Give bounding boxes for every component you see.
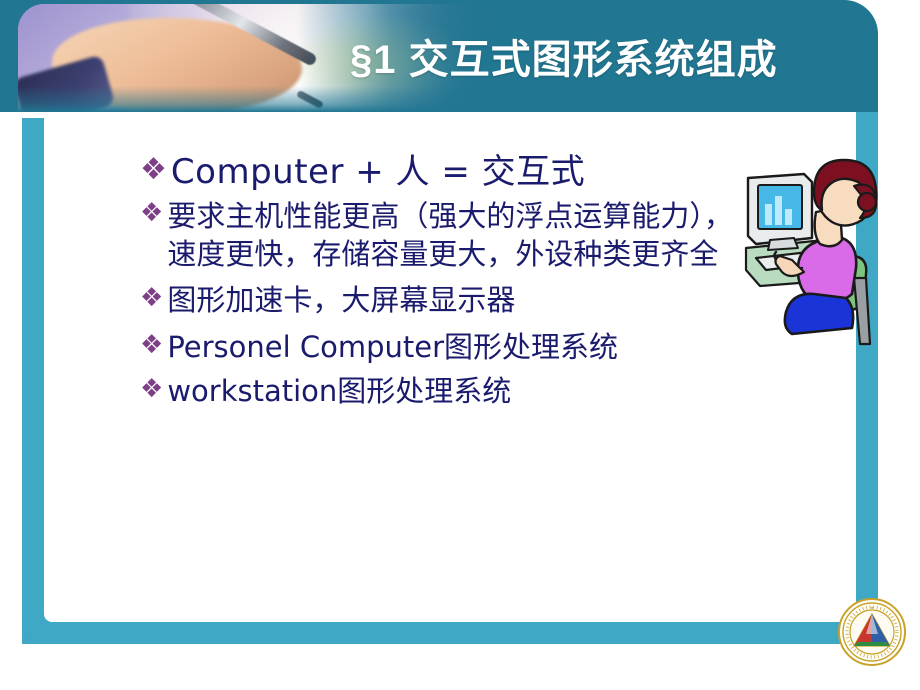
slide: §1 交互式图形系统组成 ❖ Computer + 人 = 交互式 ❖ 要求主机… [0,0,920,690]
slide-title: §1 交互式图形系统组成 [350,0,860,112]
frame-left-bar [22,118,44,644]
slide-body: ❖ Computer + 人 = 交互式 ❖ 要求主机性能更高（强大的浮点运算能… [44,130,856,620]
bullet-text: workstation图形处理系统 [167,374,511,408]
diamond-bullet-icon: ❖ [140,374,163,405]
bullet-item-2: ❖ 要求主机性能更高（强大的浮点运算能力），速度更快，存储容量更大，外设种类更齐… [140,198,840,273]
diamond-bullet-icon: ❖ [140,283,163,314]
bullet-text: Computer + 人 = 交互式 [171,152,585,192]
bullet-text: 图形加速卡，大屏幕显示器 [167,283,515,317]
bullet-item-5: ❖ workstation图形处理系统 [140,374,840,408]
bullet-item-3: ❖ 图形加速卡，大屏幕显示器 [140,283,840,317]
frame-bottom-bar [22,622,878,644]
diamond-bullet-icon: ❖ [140,152,167,187]
bullet-item-4: ❖ Personel Computer图形处理系统 [140,330,840,364]
bullet-text: Personel Computer图形处理系统 [167,330,618,364]
bullet-text: 要求主机性能更高（强大的浮点运算能力），速度更快，存储容量更大，外设种类更齐全 [167,198,757,273]
university-emblem-logo-icon: ★ [836,596,908,668]
slide-header: §1 交互式图形系统组成 [0,0,878,112]
bullet-item-1: ❖ Computer + 人 = 交互式 [140,152,840,192]
diamond-bullet-icon: ❖ [140,198,163,229]
bullet-list: ❖ Computer + 人 = 交互式 ❖ 要求主机性能更高（强大的浮点运算能… [140,152,840,414]
diamond-bullet-icon: ❖ [140,330,163,361]
woman-at-computer-clipart-icon [742,152,882,348]
